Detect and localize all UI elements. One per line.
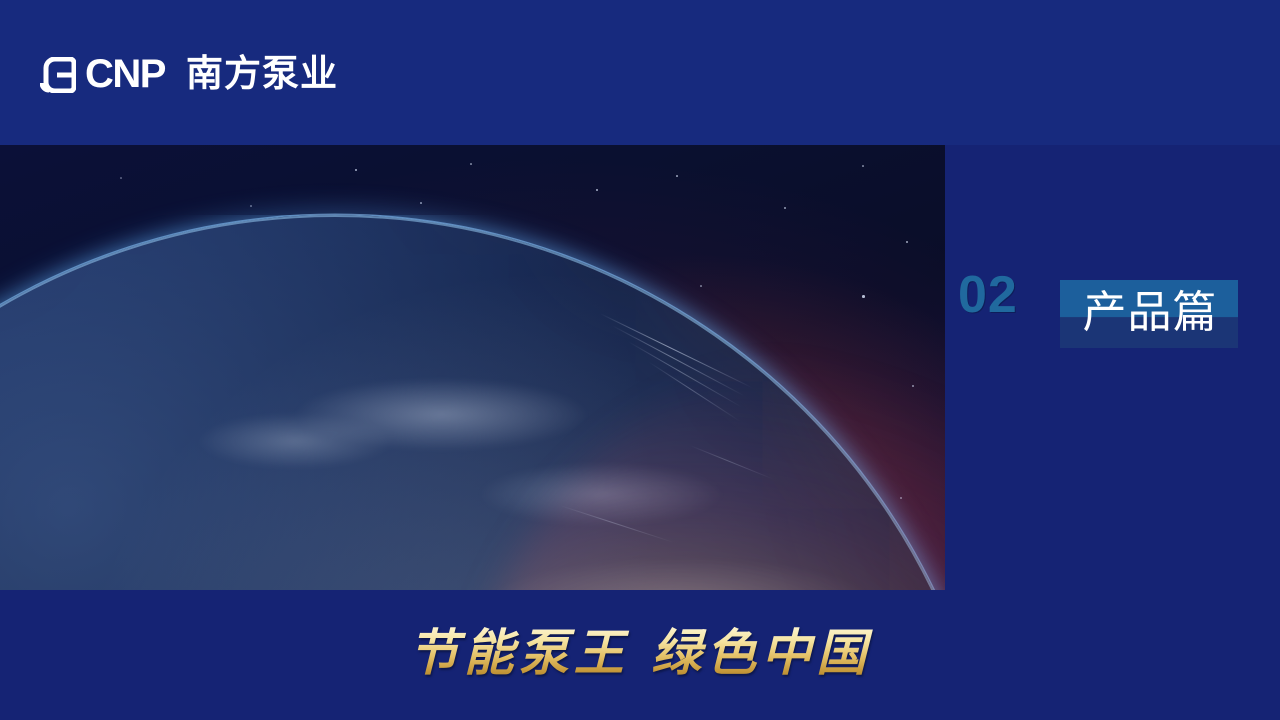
presentation-slide: CNP 南方泵业 xyxy=(0,0,1280,720)
company-tagline: 节能泵王 绿色中国 xyxy=(0,624,1280,682)
logo-chinese-text: 南方泵业 xyxy=(186,54,338,94)
cnp-emblem-icon xyxy=(40,57,76,93)
section-marker: 02 产品篇 xyxy=(945,145,1280,590)
logo-latin-text: CNP xyxy=(85,54,165,94)
slide-header: CNP 南方泵业 xyxy=(0,0,1280,145)
section-number: 02 xyxy=(958,269,1018,321)
earth-image-panel xyxy=(0,145,945,590)
company-logo[interactable]: CNP 南方泵业 xyxy=(40,52,338,98)
slide-footer: 节能泵王 绿色中国 xyxy=(0,590,1280,720)
section-title: 产品篇 xyxy=(1069,282,1231,344)
